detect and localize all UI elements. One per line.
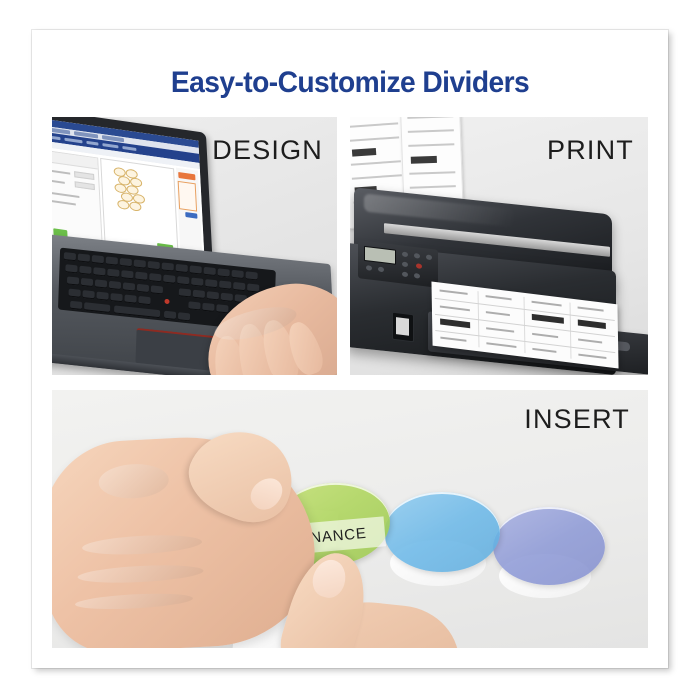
preview-chip bbox=[185, 212, 197, 219]
screen-field-label bbox=[52, 192, 79, 198]
design-photo: DESIGN bbox=[52, 117, 337, 375]
preview-sheet-frame bbox=[178, 181, 197, 212]
laptop-trackpoint bbox=[164, 299, 169, 305]
screen-field-label bbox=[52, 180, 65, 184]
panel-insert: FINANCE INSERT bbox=[52, 390, 648, 648]
screen-properties-panel bbox=[52, 150, 103, 249]
printer-button bbox=[402, 271, 408, 277]
panel-print: PRINT bbox=[350, 117, 648, 375]
panel-label-print: PRINT bbox=[547, 135, 634, 166]
printer-cartridge-chip bbox=[396, 317, 409, 336]
printer-button bbox=[426, 254, 432, 260]
printer-lid-highlight bbox=[364, 193, 514, 227]
printer-button bbox=[402, 261, 408, 267]
printer-power-button bbox=[416, 263, 422, 269]
panel-design: DESIGN bbox=[52, 117, 337, 375]
divider-tab-blue bbox=[384, 492, 500, 572]
printer-button bbox=[402, 251, 408, 257]
screen-properties-header bbox=[52, 151, 98, 170]
panel-label-insert: INSERT bbox=[524, 404, 630, 435]
printer-cartridge-slot bbox=[392, 312, 414, 343]
print-photo: PRINT bbox=[350, 117, 648, 375]
screen-field-input bbox=[75, 181, 95, 190]
divider-tab-purple bbox=[493, 507, 605, 585]
insert-photo: FINANCE INSERT bbox=[52, 390, 648, 648]
product-card: Easy-to-Customize Dividers bbox=[32, 30, 668, 668]
printer-lcd-display bbox=[364, 246, 396, 265]
printer-button bbox=[366, 265, 372, 271]
screen-field-input bbox=[74, 171, 94, 180]
insert-finger-nail bbox=[309, 556, 350, 601]
screen-field-label bbox=[52, 170, 70, 175]
panel-label-design: DESIGN bbox=[212, 135, 323, 166]
preview-banner bbox=[178, 172, 195, 180]
page-title: Easy-to-Customize Dividers bbox=[51, 66, 649, 100]
printer-button bbox=[378, 267, 384, 273]
insert-thumb-nail bbox=[245, 472, 289, 516]
printer-button bbox=[414, 273, 420, 279]
screen-field-label bbox=[52, 200, 76, 206]
printer-button bbox=[414, 253, 420, 259]
